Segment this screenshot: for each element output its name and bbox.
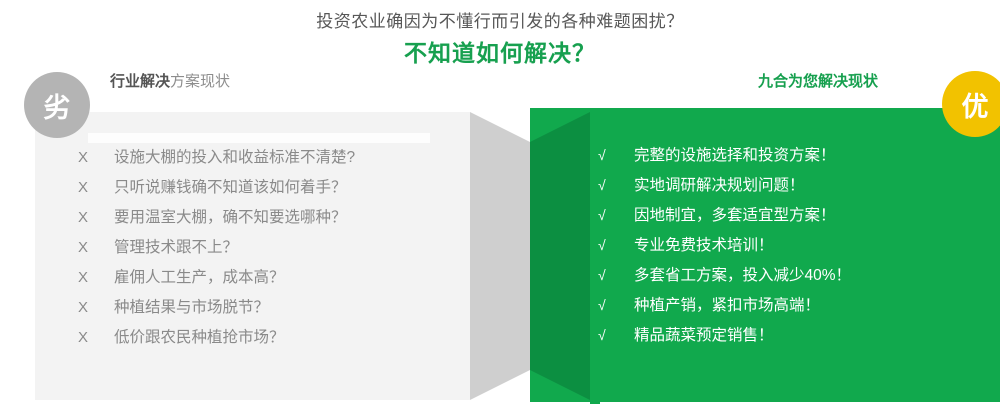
comparison-banner: 投资农业确因为不懂行而引发的各种难题困扰？ 不知道如何解决？ 劣 优 行业解决方… <box>0 0 1000 416</box>
list-item: X管理技术跟不上？ <box>78 233 458 263</box>
list-item-label: 因地制宜，多套适宜型方案！ <box>634 201 836 231</box>
cross-icon: X <box>78 203 114 233</box>
bad-panel-highlight-strip <box>88 133 433 143</box>
bad-section-header-light: 方案现状 <box>170 73 230 90</box>
bad-section-header: 行业解决方案现状 <box>110 72 230 92</box>
list-item-label: 专业免费技术培训！ <box>634 231 774 261</box>
list-item-label: 种植结果与市场脱节？ <box>114 293 269 323</box>
list-item: X种植结果与市场脱节？ <box>78 293 458 323</box>
list-item-label: 只听说赚钱确不知道该如何着手？ <box>114 173 347 203</box>
list-item-label: 要用温室大棚，确不知要选哪种？ <box>114 203 347 233</box>
check-icon: √ <box>598 140 634 170</box>
cross-icon: X <box>78 263 114 293</box>
list-item: √专业免费技术培训！ <box>598 230 988 260</box>
list-item: X只听说赚钱确不知道该如何着手？ <box>78 173 458 203</box>
list-item-label: 完整的设施选择和投资方案！ <box>634 141 836 171</box>
list-item-label: 雇佣人工生产，成本高？ <box>114 263 285 293</box>
headline-secondary: 不知道如何解决？ <box>0 38 1000 68</box>
list-item: X低价跟农民种植抢市场？ <box>78 323 458 353</box>
list-item-label: 设施大棚的投入和收益标准不清楚? <box>114 143 355 173</box>
good-solution-list: √完整的设施选择和投资方案！ √实地调研解决规划问题！ √因地制宜，多套适宜型方… <box>598 140 988 350</box>
check-icon: √ <box>598 290 634 320</box>
good-section-header: 九合为您解决现状 <box>758 72 878 92</box>
bad-badge: 劣 <box>24 72 90 138</box>
list-item: √精品蔬菜预定销售！ <box>598 320 988 350</box>
list-item: X雇佣人工生产，成本高？ <box>78 263 458 293</box>
list-item: √实地调研解决规划问题！ <box>598 170 988 200</box>
bad-section-header-strong: 行业解决 <box>110 73 170 90</box>
check-icon: √ <box>598 170 634 200</box>
cross-icon: X <box>78 173 114 203</box>
list-item: X设施大棚的投入和收益标准不清楚? <box>78 143 458 173</box>
cross-icon: X <box>78 233 114 263</box>
list-item: X要用温室大棚，确不知要选哪种？ <box>78 203 458 233</box>
check-icon: √ <box>598 260 634 290</box>
check-icon: √ <box>598 320 634 350</box>
list-item: √因地制宜，多套适宜型方案！ <box>598 200 988 230</box>
headline-primary: 投资农业确因为不懂行而引发的各种难题困扰？ <box>0 10 1000 34</box>
list-item-label: 种植产销，紧扣市场高端！ <box>634 291 820 321</box>
bad-problem-list: X设施大棚的投入和收益标准不清楚? X只听说赚钱确不知道该如何着手？ X要用温室… <box>78 143 458 353</box>
list-item-label: 多套省工方案，投入减少40%！ <box>634 261 851 291</box>
good-badge: 优 <box>942 71 1000 137</box>
list-item: √完整的设施选择和投资方案！ <box>598 140 988 170</box>
list-item-label: 低价跟农民种植抢市场？ <box>114 323 285 353</box>
check-icon: √ <box>598 200 634 230</box>
cross-icon: X <box>78 323 114 353</box>
list-item: √多套省工方案，投入减少40%！ <box>598 260 988 290</box>
cross-icon: X <box>78 293 114 323</box>
list-item-label: 精品蔬菜预定销售！ <box>634 321 774 351</box>
cross-icon: X <box>78 143 114 173</box>
list-item-label: 管理技术跟不上？ <box>114 233 238 263</box>
check-icon: √ <box>598 230 634 260</box>
list-item: √种植产销，紧扣市场高端！ <box>598 290 988 320</box>
list-item-label: 实地调研解决规划问题！ <box>634 171 805 201</box>
